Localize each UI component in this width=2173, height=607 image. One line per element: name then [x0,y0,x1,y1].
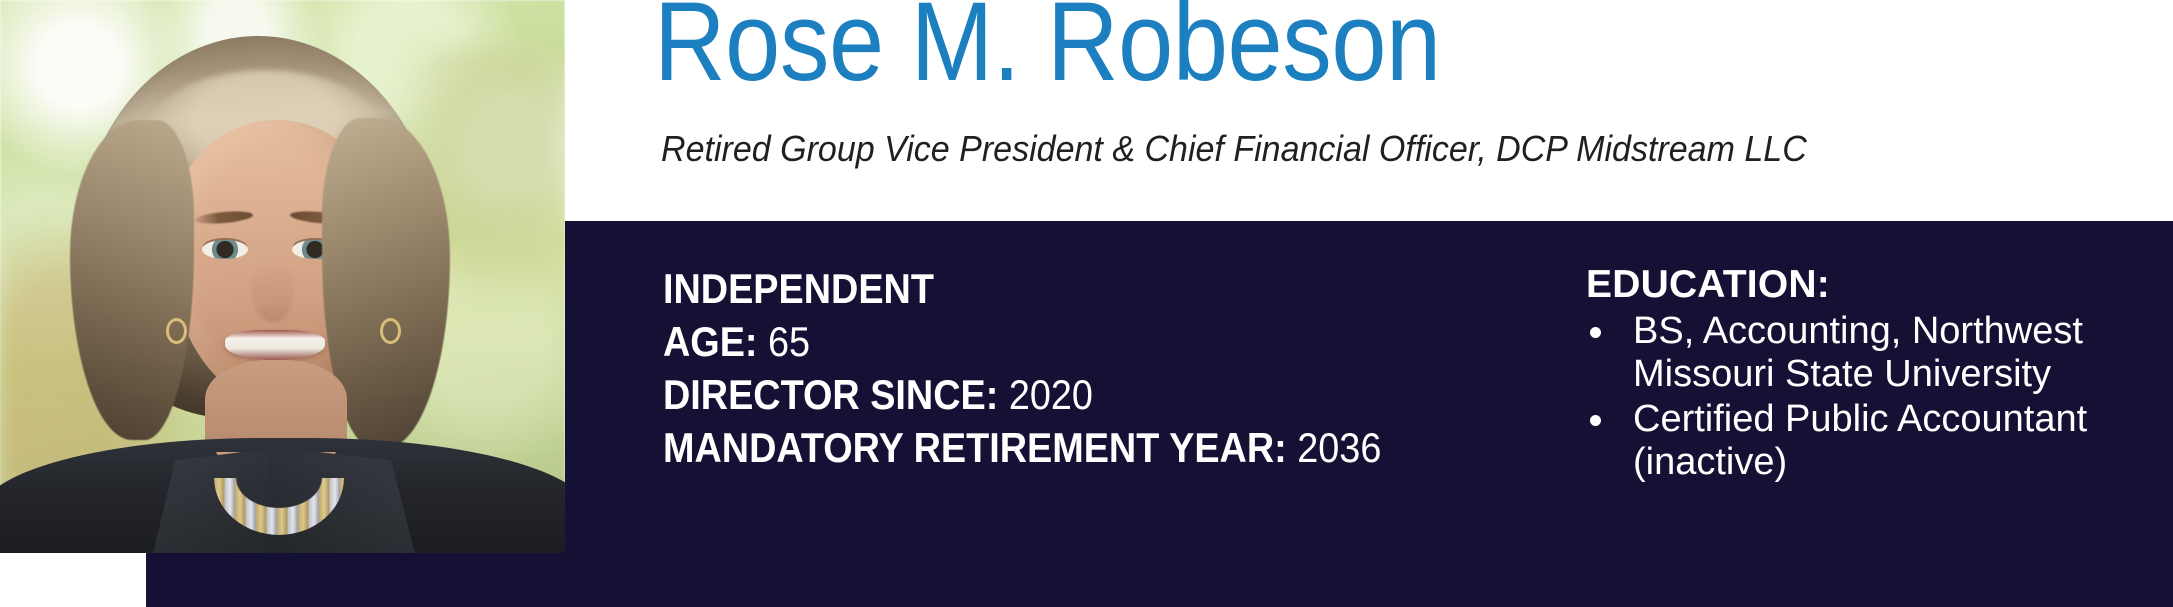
portrait-nose [252,262,294,322]
list-item: BS, Accounting, Northwest Missouri State… [1586,310,2146,396]
bullet-icon [1590,327,1601,338]
director-bio-card: Rose M. Robeson Retired Group Vice Presi… [0,0,2173,607]
bullet-icon [1590,415,1601,426]
education-list: BS, Accounting, Northwest Missouri State… [1586,310,2146,484]
portrait-mouth [225,330,325,360]
age-label: AGE: [663,318,758,365]
director-title-subtitle: Retired Group Vice President & Chief Fin… [661,131,1807,167]
fact-row-director-since: DIRECTOR SINCE: 2020 [663,368,1381,421]
director-name: Rose M. Robeson [654,0,1441,98]
director-facts-list: INDEPENDENT AGE: 65 DIRECTOR SINCE: 2020… [663,262,1381,474]
education-item-text: Certified Public Accountant (inactive) [1633,398,2087,483]
director-portrait-photo [0,0,565,553]
portrait-earring-left [166,318,187,344]
fact-row-independence: INDEPENDENT [663,262,1381,315]
age-value: 65 [768,318,810,365]
independence-label: INDEPENDENT [663,265,934,312]
portrait-eye-left [202,240,248,259]
education-item-text: BS, Accounting, Northwest Missouri State… [1633,310,2083,395]
navy-footer-strip [146,553,565,607]
portrait-earring-right [380,318,401,344]
education-section: EDUCATION: BS, Accounting, Northwest Mis… [1586,263,2146,486]
mandatory-retirement-value: 2036 [1297,424,1381,471]
fact-row-mandatory-retirement: MANDATORY RETIREMENT YEAR: 2036 [663,421,1381,474]
mandatory-retirement-label: MANDATORY RETIREMENT YEAR: [663,424,1287,471]
list-item: Certified Public Accountant (inactive) [1586,398,2146,484]
fact-row-age: AGE: 65 [663,315,1381,368]
director-since-label: DIRECTOR SINCE: [663,371,998,418]
education-heading: EDUCATION: [1586,263,2146,306]
director-since-value: 2020 [1009,371,1093,418]
